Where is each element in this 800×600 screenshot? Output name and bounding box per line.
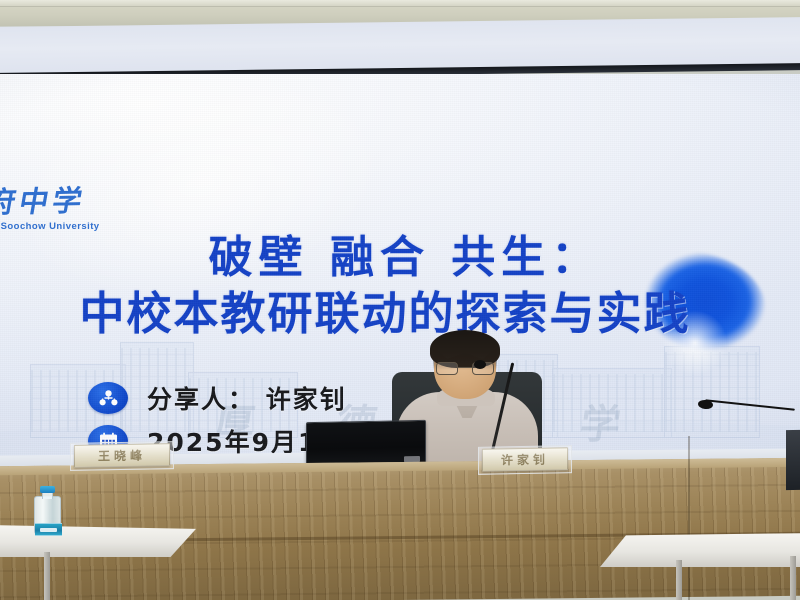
bottle-cap bbox=[40, 486, 55, 493]
meta-row-presenter: 分享人： 许家钊 bbox=[88, 376, 364, 419]
audience-table-right bbox=[600, 533, 800, 567]
nameplate-left: 王晓峰 bbox=[74, 443, 170, 468]
bottle-label bbox=[35, 523, 62, 536]
slide-title-line2: 中校本教研联动的探索与实践 bbox=[0, 289, 800, 339]
audience-table-left bbox=[0, 525, 196, 557]
school-logo-english: iliated to Soochow University bbox=[0, 221, 164, 232]
table-leg-right-2 bbox=[790, 556, 796, 600]
bottle-body bbox=[34, 496, 61, 535]
panel-seam bbox=[688, 436, 690, 600]
slide-title-line1: 破壁 融合 共生： bbox=[0, 232, 800, 283]
wall-shadow-gap bbox=[786, 430, 800, 490]
school-logo-chinese: 学府中学 bbox=[0, 176, 168, 222]
table-leg-left bbox=[44, 552, 50, 600]
ceiling-trim bbox=[0, 0, 800, 7]
slide-title: 破壁 融合 共生： 中校本教研联动的探索与实践 bbox=[0, 232, 800, 339]
microphone-head bbox=[474, 360, 486, 369]
nameplate-right-text: 许家钊 bbox=[501, 451, 549, 469]
presentation-photo: 厚 德 博 学 学府中学 iliated to Soochow Universi… bbox=[0, 0, 800, 600]
table-leg-right bbox=[676, 560, 682, 600]
school-logo: 学府中学 iliated to Soochow University bbox=[0, 178, 164, 232]
nameplate-right: 许家钊 bbox=[482, 447, 568, 472]
water-bottle bbox=[34, 486, 61, 535]
presenter-text: 分享人： 许家钊 bbox=[147, 380, 347, 416]
nameplate-left-text: 王晓峰 bbox=[98, 447, 146, 465]
people-group-icon bbox=[88, 382, 128, 414]
